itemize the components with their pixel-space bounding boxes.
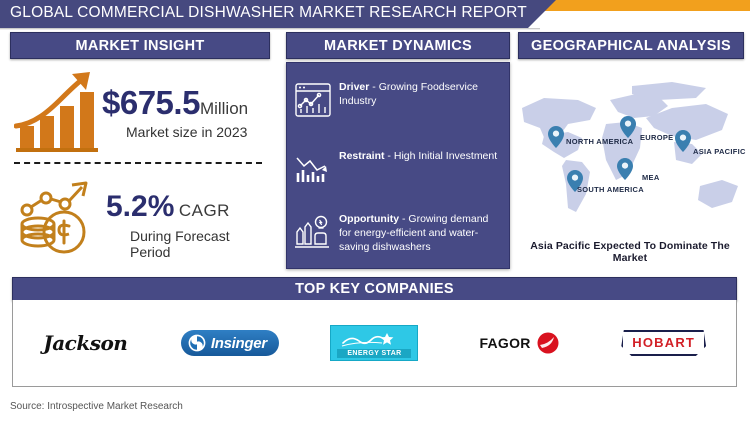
header-shadow [0,28,540,30]
declining-bars-icon [287,146,339,192]
market-size-value: $675.5 [102,84,200,121]
insight-divider [14,162,262,164]
source-note: Source: Introspective Market Research [10,401,183,412]
coins-growth-icon [16,174,100,258]
infographic-canvas: GLOBAL COMMERCIAL DISHWASHER MARKET RESE… [0,0,750,422]
dynamics-restraint-text: Restraint - High Initial Investment [339,146,505,163]
dynamics-restraint-dash: - [385,150,394,162]
company-logo-jackson: Jackson [13,300,158,386]
hand-bulb-growth-icon [287,209,339,255]
fagor-swoosh-icon [537,332,559,354]
market-dynamics-panel: Driver - Growing Foodservice Industry Re… [286,62,510,269]
company-logo-hobart: HOBART [591,300,736,386]
dynamics-opportunity-text: Opportunity - Growing demand for energy-… [339,209,509,255]
company-name-fagor: FAGOR [479,335,530,351]
swirl-icon [188,334,206,352]
geographical-analysis-panel: NORTH AMERICA EUROPE ASIA PACIFIC MEA SO… [514,62,746,267]
dynamics-driver-label: Driver [339,81,369,93]
company-name-jackson: Jackson [43,331,127,355]
dynamics-driver-dash: - [369,81,378,93]
dynamics-driver-text: Driver - Growing Foodservice Industry [339,77,509,108]
map-pin-asia-pacific[interactable] [675,130,691,157]
market-size-block: $675.5Million Market size in 2023 [10,62,268,159]
market-size-value-row: $675.5Million [102,84,248,122]
company-name-energy-star: ENERGY STAR [337,349,411,358]
map-pin-mea[interactable] [617,158,633,185]
company-logo-energy-star: ENERGY STAR [302,300,447,386]
market-insight-heading: MARKET INSIGHT [10,32,270,59]
map-pin-north-america[interactable] [548,126,564,153]
dynamics-restraint-body: High Initial Investment [394,150,497,162]
market-insight-panel: $675.5Million Market size in 2023 [10,62,268,267]
key-companies-heading: TOP KEY COMPANIES [12,277,737,301]
geographical-caption: Asia Pacific Expected To Dominate The Ma… [514,240,746,264]
dynamics-item-opportunity: Opportunity - Growing demand for energy-… [287,209,509,255]
dynamics-item-restraint: Restraint - High Initial Investment [287,146,509,192]
dynamics-opportunity-label: Opportunity [339,213,399,225]
market-dynamics-heading: MARKET DYNAMICS [286,32,510,59]
key-companies-panel: Jackson Insinger ENERGY STAR [12,300,737,387]
energy-star-script-icon [337,329,411,349]
header-banner: GLOBAL COMMERCIAL DISHWASHER MARKET RESE… [0,0,556,28]
dynamics-item-driver: Driver - Growing Foodservice Industry [287,77,509,123]
world-map: NORTH AMERICA EUROPE ASIA PACIFIC MEA SO… [514,74,746,234]
header-accent-bar [520,0,750,11]
geographical-analysis-heading: GEOGRAPHICAL ANALYSIS [518,32,744,59]
cagr-value: 5.2% [106,190,174,223]
company-name-hobart: HOBART [632,335,695,350]
map-label-south-america: SOUTH AMERICA [577,185,644,194]
map-label-asia-pacific: ASIA PACIFIC [693,147,746,156]
bar-chart-growth-icon [14,68,100,154]
map-pin-europe[interactable] [620,116,636,143]
dashboard-analytics-icon [287,77,339,123]
company-logo-fagor: FAGOR [447,300,592,386]
page-title: GLOBAL COMMERCIAL DISHWASHER MARKET RESE… [10,4,527,22]
cagr-block: 5.2% CAGR During Forecast Period [10,170,268,265]
company-logo-insinger: Insinger [158,300,303,386]
market-size-caption: Market size in 2023 [126,124,247,140]
company-name-insinger: Insinger [211,335,267,352]
dynamics-restraint-label: Restraint [339,150,385,162]
cagr-caption: During Forecast Period [130,228,268,260]
map-label-europe: EUROPE [640,133,673,142]
cagr-label: CAGR [179,201,230,220]
cagr-value-row: 5.2% CAGR [106,190,230,224]
market-size-unit: Million [200,99,248,118]
map-label-mea: MEA [642,173,660,182]
